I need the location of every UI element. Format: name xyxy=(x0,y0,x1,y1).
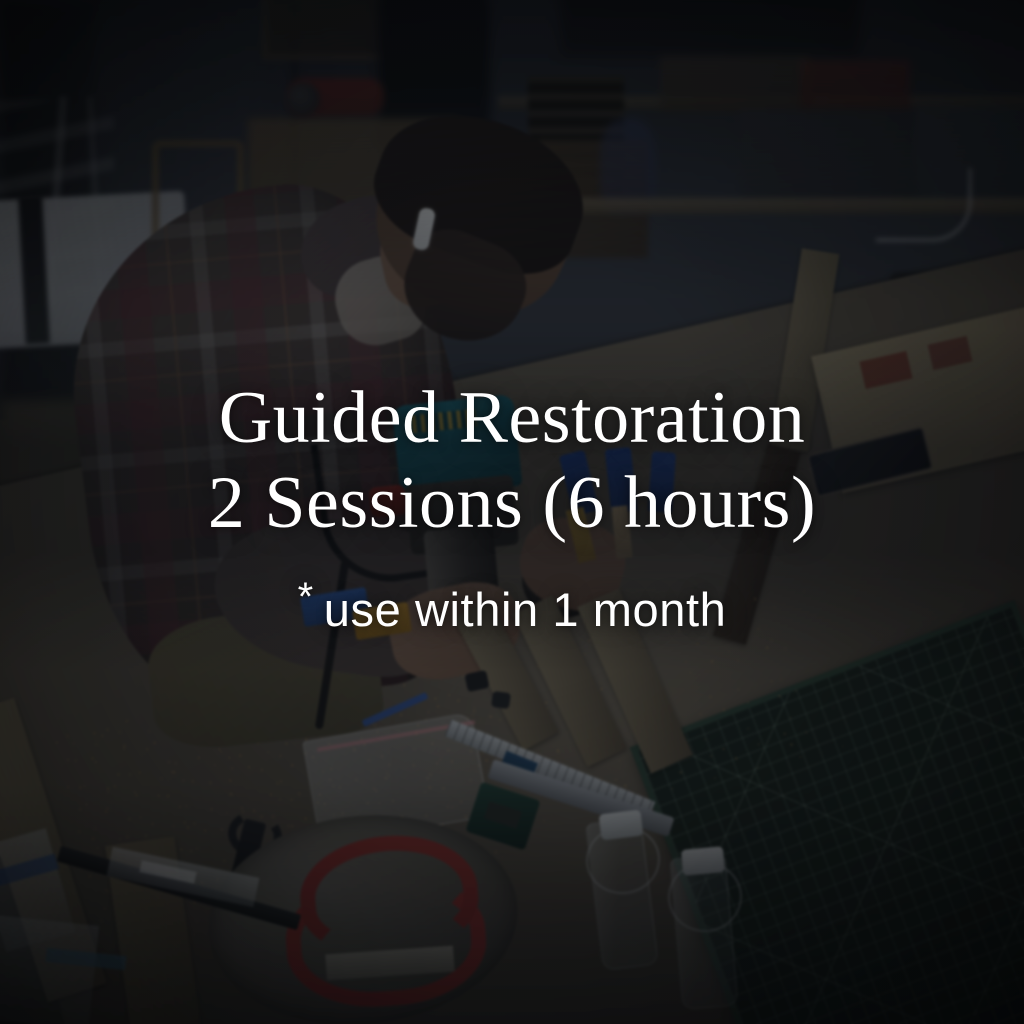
subtitle-text: use within 1 month xyxy=(324,583,727,636)
promo-image-canvas: Guided Restoration 2 Sessions (6 hours) … xyxy=(0,0,1024,1024)
headline: Guided Restoration 2 Sessions (6 hours) xyxy=(0,376,1024,546)
headline-line-2: 2 Sessions (6 hours) xyxy=(0,461,1024,546)
subtitle: *use within 1 month xyxy=(0,568,1024,639)
overlay-text-block: Guided Restoration 2 Sessions (6 hours) … xyxy=(0,376,1024,639)
asterisk-marker: * xyxy=(298,568,314,626)
headline-line-1: Guided Restoration xyxy=(219,377,806,459)
